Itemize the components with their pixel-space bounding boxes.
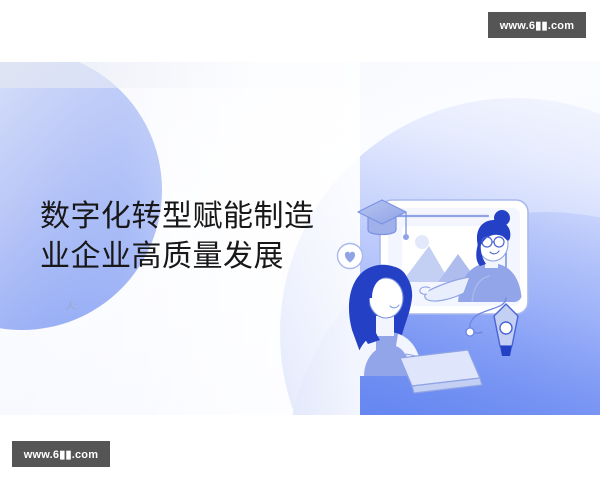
online-learning-illustration bbox=[330, 180, 560, 395]
watermark-top: www.6▮▮.com bbox=[488, 12, 586, 38]
heart-icon bbox=[338, 244, 363, 269]
watermark-bottom: www.6▮▮.com bbox=[12, 441, 110, 467]
banner-image: 数字化转型赋能制造业企业高质量发展 人: bbox=[0, 62, 600, 415]
banner-byline: 人: bbox=[66, 299, 78, 312]
banner-headline: 数字化转型赋能制造业企业高质量发展 bbox=[40, 197, 340, 277]
